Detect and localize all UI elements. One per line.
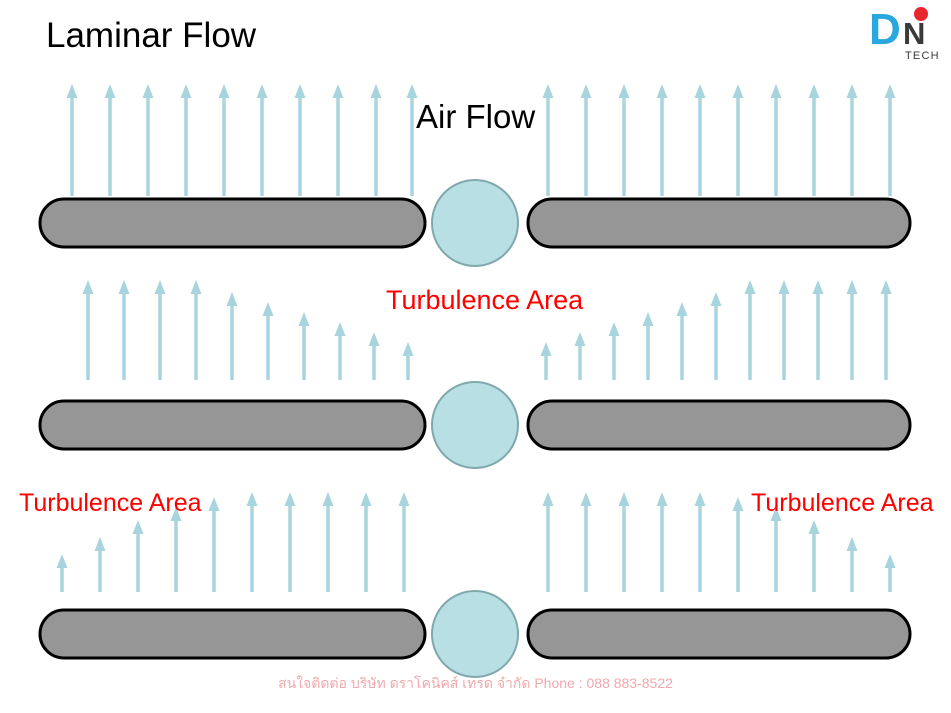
dn-tech-logo: D N TECH [869,4,947,66]
arrow-shaft [660,504,664,592]
flow-arrow [171,507,182,592]
arrow-head-icon [95,537,106,551]
arrow-shaft [850,96,854,196]
arrow-shaft [850,549,854,592]
arrow-shaft [884,292,888,380]
arrow-shaft [288,504,292,592]
arrow-head-icon [677,302,688,316]
arrow-head-icon [847,537,858,551]
arrow-head-icon [361,492,372,506]
flow-arrow [643,312,654,380]
arrow-shaft [70,96,74,196]
arrow-shaft [298,96,302,196]
flow-arrow [219,84,230,196]
arrow-shaft [748,292,752,380]
arrow-head-icon [695,84,706,98]
flow-arrow [771,507,782,592]
arrow-shaft [336,96,340,196]
arrow-head-icon [745,280,756,294]
arrow-shaft [402,504,406,592]
flow-arrow [543,492,554,592]
arrow-head-icon [543,492,554,506]
arrow-head-icon [133,520,144,534]
flow-arrow [847,280,858,380]
arrow-head-icon [809,520,820,534]
arrow-head-icon [403,342,414,356]
arrow-head-icon [295,84,306,98]
flow-arrow [323,492,334,592]
arrow-shaft [782,292,786,380]
arrow-head-icon [609,322,620,336]
flow-arrow [83,280,94,380]
turbulence-area-label-bottom-right: Turbulence Area [751,491,934,516]
air-flow-label: Air Flow [416,100,535,133]
arrow-shaft [888,96,892,196]
arrow-head-icon [543,84,554,98]
flow-arrow [695,84,706,196]
arrow-shaft [194,292,198,380]
arrow-head-icon [119,280,130,294]
arrow-shaft [812,532,816,592]
arrow-shaft [98,549,102,592]
arrow-shaft [812,96,816,196]
arrow-shaft [736,509,740,592]
arrow-head-icon [695,492,706,506]
flow-arrow [733,84,744,196]
flow-arrow [191,280,202,380]
arrow-head-icon [581,84,592,98]
flow-arrow [885,84,896,196]
arrow-shaft [660,96,664,196]
flow-arrow [95,537,106,592]
arrow-shaft [184,96,188,196]
page-title: Laminar Flow [46,18,256,53]
flow-arrow [809,84,820,196]
flow-arrow [155,280,166,380]
arrow-head-icon [181,84,192,98]
arrow-shaft [544,354,548,380]
arrow-head-icon [885,554,896,568]
arrow-shaft [578,344,582,380]
flow-arrow [809,520,820,592]
flow-arrow [657,84,668,196]
duct-bar-left [40,199,425,247]
arrow-head-icon [779,280,790,294]
logo-tagline: TECH [905,50,940,62]
arrow-head-icon [771,84,782,98]
arrow-head-icon [847,84,858,98]
arrow-shaft [146,96,150,196]
flow-arrow [371,84,382,196]
flow-arrow [711,292,722,380]
flow-arrow [133,520,144,592]
arrow-head-icon [369,332,380,346]
arrow-shaft [850,292,854,380]
arrow-shaft [230,304,234,380]
flow-arrow [541,342,552,380]
arrow-head-icon [407,84,418,98]
arrow-shaft [222,96,226,196]
arrow-head-icon [657,84,668,98]
arrow-shaft [584,96,588,196]
arrow-head-icon [657,492,668,506]
arrow-head-icon [581,492,592,506]
flow-arrow [581,492,592,592]
flow-arrow [333,84,344,196]
flow-arrow [779,280,790,380]
logo-red-dot-icon [914,7,928,21]
flow-arrow [399,492,410,592]
arrow-head-icon [227,292,238,306]
footer-contact-text: สนใจติดต่อ บริษัท ดราโคนิคส์ เทรด จำกัด … [0,676,951,690]
arrow-shaft [174,519,178,592]
flow-arrow [105,84,116,196]
flow-arrow [57,554,68,592]
arrow-head-icon [83,280,94,294]
flow-arrow [263,302,274,380]
arrow-shaft [410,96,414,196]
arrow-head-icon [399,492,410,506]
arrow-shaft [546,504,550,592]
flow-arrow [609,322,620,380]
arrow-head-icon [143,84,154,98]
arrow-head-icon [575,332,586,346]
arrow-shaft [326,504,330,592]
flow-arrow [847,84,858,196]
flow-arrow [619,492,630,592]
turbulence-area-label-bottom-left: Turbulence Area [19,491,202,516]
arrow-head-icon [643,312,654,326]
arrow-shaft [816,292,820,380]
arrow-head-icon [733,84,744,98]
flow-arrow [619,84,630,196]
flow-arrow [361,492,372,592]
arrow-head-icon [257,84,268,98]
arrow-head-icon [733,497,744,511]
arrow-shaft [584,504,588,592]
arrow-head-icon [57,554,68,568]
arrow-shaft [622,96,626,196]
arrow-head-icon [285,492,296,506]
arrow-head-icon [263,302,274,316]
flow-arrow [67,84,78,196]
arrow-head-icon [155,280,166,294]
edge-turbulence-row [40,492,910,677]
flow-arrow [181,84,192,196]
flow-arrow [369,332,380,380]
arrow-head-icon [619,84,630,98]
flow-arrow [285,492,296,592]
arrow-head-icon [247,492,258,506]
flow-arrow [247,492,258,592]
duct-bar-left [40,401,425,449]
arrow-head-icon [809,84,820,98]
flow-arrow [657,492,668,592]
arrow-head-icon [813,280,824,294]
arrow-shaft [622,504,626,592]
duct-bar-right [528,610,910,658]
arrow-head-icon [105,84,116,98]
arrow-head-icon [219,84,230,98]
arrow-shaft [736,96,740,196]
arrow-shaft [260,96,264,196]
arrow-head-icon [323,492,334,506]
arrow-head-icon [333,84,344,98]
diagram-canvas: Laminar Flow Air Flow Turbulence Area Tu… [0,0,951,713]
flow-arrow [733,497,744,592]
flow-arrow [209,497,220,592]
duct-bar-right [528,199,910,247]
arrow-head-icon [67,84,78,98]
arrow-shaft [774,96,778,196]
arrow-shaft [406,354,410,380]
duct-bar-right [528,401,910,449]
flow-arrow [745,280,756,380]
flow-arrow [813,280,824,380]
arrow-shaft [60,566,64,592]
arrow-head-icon [619,492,630,506]
flow-arrow [543,84,554,196]
flow-arrow [335,322,346,380]
arrow-shaft [364,504,368,592]
turbulence-area-label-middle: Turbulence Area [386,287,583,314]
flow-arrow [881,280,892,380]
arrow-head-icon [371,84,382,98]
arrow-shaft [374,96,378,196]
arrow-shaft [612,334,616,380]
arrow-head-icon [885,84,896,98]
arrow-shaft [714,304,718,380]
arrow-shaft [546,96,550,196]
logo-letter-n: N [903,16,925,51]
flow-arrow [695,492,706,592]
arrow-shaft [302,324,306,380]
arrow-head-icon [881,280,892,294]
arrow-shaft [250,504,254,592]
flow-arrow [581,84,592,196]
flow-arrow [403,342,414,380]
arrow-shaft [698,96,702,196]
flow-arrow [257,84,268,196]
flow-arrow [575,332,586,380]
arrow-shaft [122,292,126,380]
centre-obstruction-circle [432,180,518,266]
duct-bar-left [40,610,425,658]
arrow-shaft [338,334,342,380]
arrow-head-icon [711,292,722,306]
arrow-shaft [266,314,270,380]
arrow-head-icon [209,497,220,511]
arrow-shaft [698,504,702,592]
arrow-shaft [158,292,162,380]
arrow-shaft [108,96,112,196]
arrow-head-icon [299,312,310,326]
centre-obstruction-circle [432,591,518,677]
arrow-head-icon [191,280,202,294]
flow-arrow [847,537,858,592]
arrow-shaft [212,509,216,592]
flow-arrow [143,84,154,196]
logo-letter-d: D [869,5,901,54]
flow-arrow [227,292,238,380]
arrow-head-icon [847,280,858,294]
flow-arrow [299,312,310,380]
arrow-shaft [646,324,650,380]
arrow-shaft [680,314,684,380]
arrow-head-icon [541,342,552,356]
flow-arrow [771,84,782,196]
flow-arrow [119,280,130,380]
centre-obstruction-circle [432,382,518,468]
arrow-shaft [136,532,140,592]
arrow-shaft [372,344,376,380]
flow-arrow [295,84,306,196]
arrow-shaft [86,292,90,380]
flow-arrow [885,554,896,592]
arrow-shaft [774,519,778,592]
flow-arrow [677,302,688,380]
arrow-head-icon [335,322,346,336]
arrow-shaft [888,566,892,592]
